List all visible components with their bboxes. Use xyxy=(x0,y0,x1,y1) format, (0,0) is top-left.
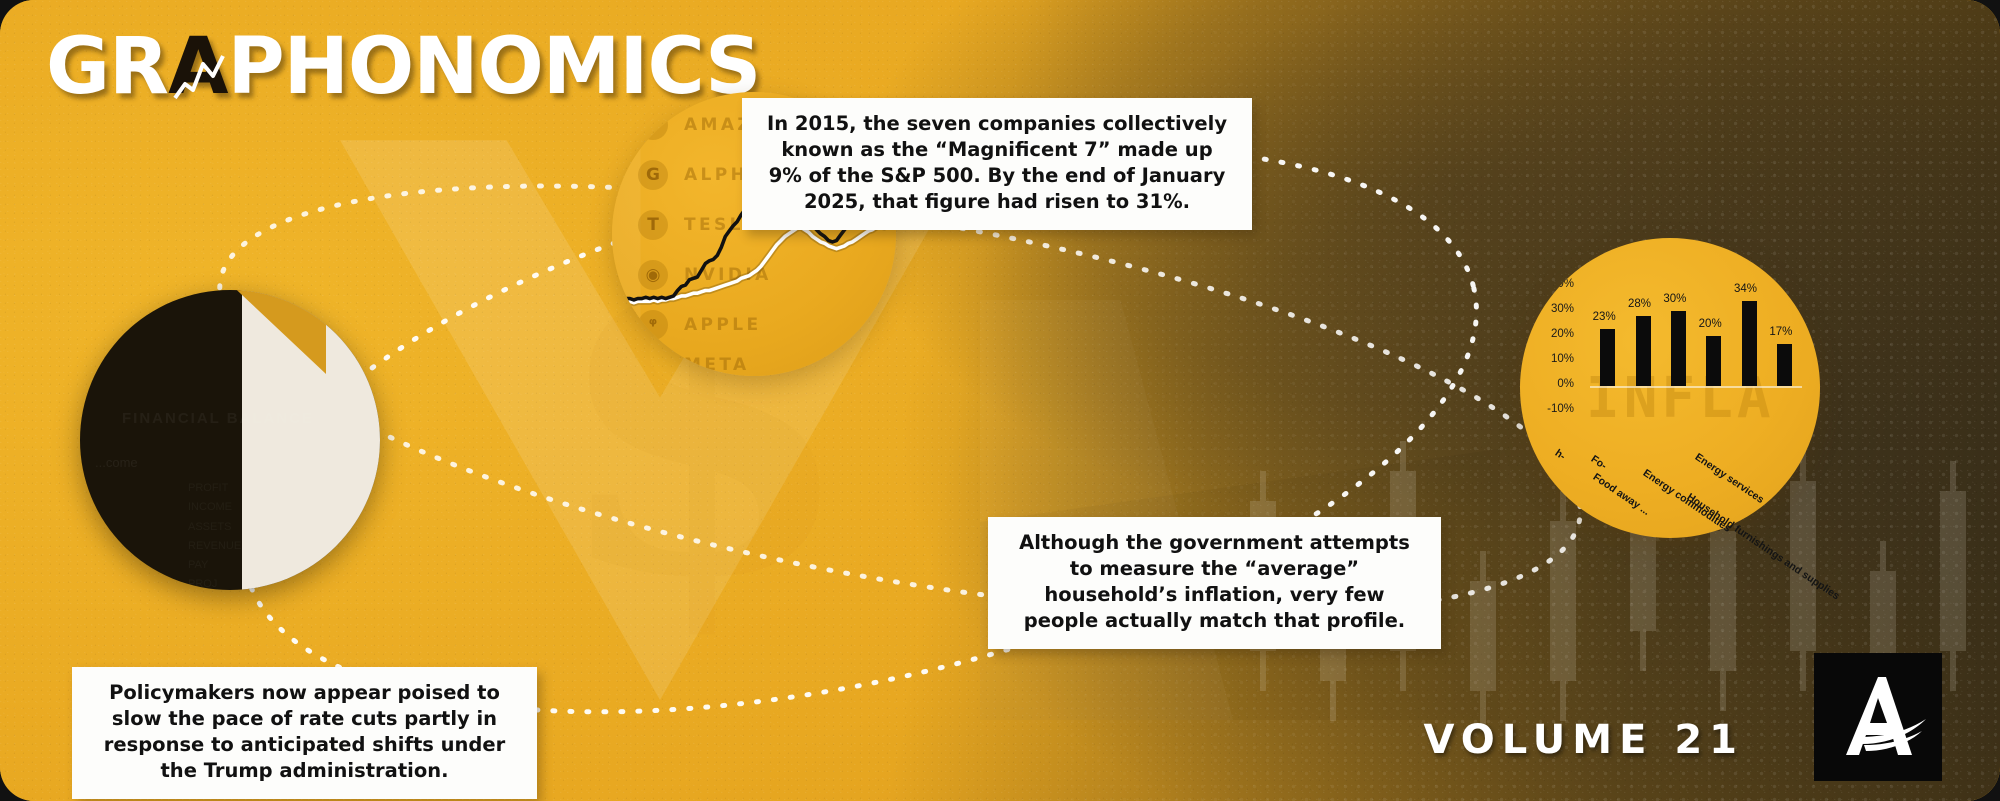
bar-value-label: 23% xyxy=(1593,311,1616,323)
bar-value-label: 34% xyxy=(1734,283,1757,295)
bar xyxy=(1636,316,1651,386)
financial-balance-circle: FINANCIAL BALANCE ...come PROFITINCOMEAS… xyxy=(80,290,380,590)
bar xyxy=(1706,336,1721,386)
callout-policy: Policymakers now appear poised to slow t… xyxy=(72,667,537,799)
bar-value-label: 28% xyxy=(1628,298,1651,310)
bar xyxy=(1671,311,1686,386)
inflation-dispersion-circle: INFLA 40%30%20%10%0%-10%23%28%30%20%34%1… xyxy=(1520,238,1820,538)
y-axis-tick-label: 10% xyxy=(1540,353,1574,365)
y-axis-tick-label: 40% xyxy=(1540,278,1574,290)
bar-value-label: 17% xyxy=(1769,326,1792,338)
volume-label: VOLUME 21 xyxy=(1423,717,1744,763)
callout-magnificent-7: In 2015, the seven companies collectivel… xyxy=(742,98,1252,230)
line-chart-icon xyxy=(173,54,225,100)
y-axis-tick-label: 20% xyxy=(1540,328,1574,340)
bar-value-label: 30% xyxy=(1663,293,1686,305)
y-axis-tick-label: 30% xyxy=(1540,303,1574,315)
y-axis-tick-label: -10% xyxy=(1540,403,1574,415)
balance-watermark-rows: PROFITINCOMEASSETSREVENUEPAYPROJ xyxy=(188,479,241,590)
bar xyxy=(1742,301,1757,386)
masthead-letter-a: A xyxy=(168,28,227,106)
y-axis-tick-label: 0% xyxy=(1540,378,1574,390)
bar xyxy=(1600,329,1615,387)
callout-inflation: Although the government attempts to meas… xyxy=(988,517,1441,649)
balance-watermark-subtitle: ...come xyxy=(95,455,138,470)
bar xyxy=(1777,344,1792,387)
publisher-logo xyxy=(1814,653,1942,781)
balance-watermark-title: FINANCIAL BALANCE xyxy=(122,410,314,427)
masthead-text-left: GR xyxy=(46,22,168,112)
graphonomics-banner: $ GRA PHONOMICS FINANCIAL BALANCE xyxy=(0,0,2000,801)
bar-value-label: 20% xyxy=(1699,318,1722,330)
zero-gridline xyxy=(1590,386,1802,388)
stylized-a-logo-icon xyxy=(1826,665,1930,769)
